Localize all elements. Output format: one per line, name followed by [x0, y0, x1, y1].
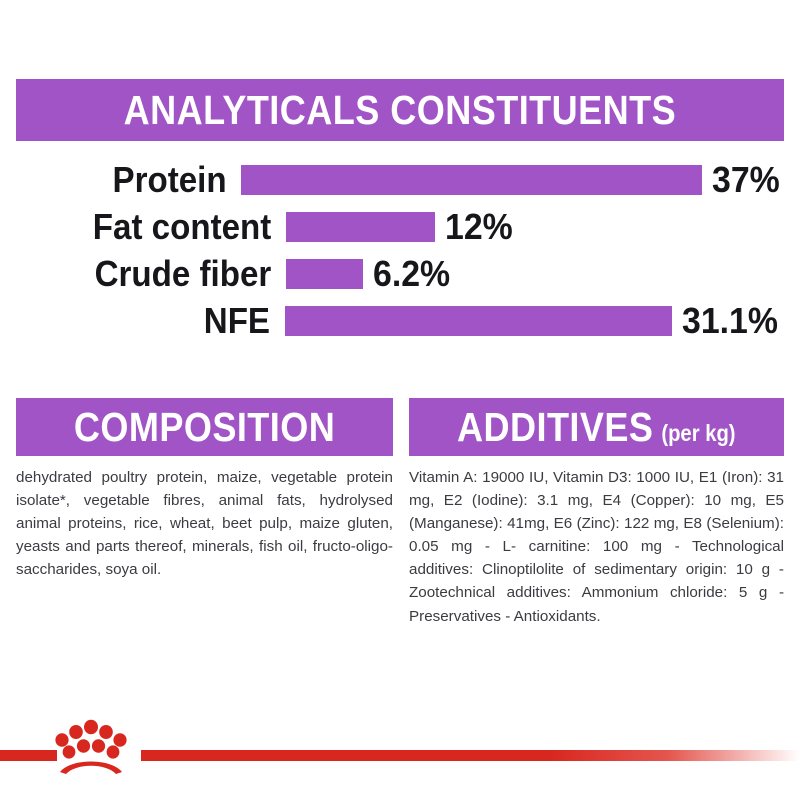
nutrition-label-page: ANALYTICALS CONSTITUENTS Protein37%Fat c…	[0, 0, 800, 800]
bar-track: 12%	[286, 203, 784, 250]
bar-row: Fat content12%	[16, 203, 784, 250]
bar-fill	[285, 306, 672, 336]
royal-canin-crown-icon	[55, 714, 127, 776]
bar-fill	[286, 212, 435, 242]
analyticals-constituents-title: ANALYTICALS CONSTITUENTS	[124, 90, 676, 131]
additives-list-text: Vitamin A: 19000 IU, Vitamin D3: 1000 IU…	[409, 466, 784, 628]
bar-row: Protein37%	[16, 156, 784, 203]
bar-fill	[286, 259, 363, 289]
bar-row: Crude fiber6.2%	[16, 250, 784, 297]
bar-value-label: 31.1%	[682, 303, 778, 339]
bar-track: 6.2%	[286, 250, 784, 297]
bar-category-label: NFE	[37, 303, 284, 339]
additives-title-group: ADDITIVES (per kg)	[457, 407, 736, 448]
bar-category-label: Fat content	[38, 209, 286, 245]
bar-track: 37%	[241, 156, 784, 203]
bar-category-label: Crude fiber	[38, 256, 286, 292]
composition-header: COMPOSITION	[16, 398, 393, 456]
composition-title: COMPOSITION	[74, 407, 335, 448]
bar-row: NFE31.1%	[16, 297, 784, 344]
analyticals-constituents-header: ANALYTICALS CONSTITUENTS	[16, 79, 784, 141]
additives-title: ADDITIVES	[457, 407, 653, 448]
bar-category-label: Protein	[34, 162, 241, 198]
bar-value-label: 37%	[712, 162, 780, 198]
bar-value-label: 6.2%	[373, 256, 450, 292]
brand-rule-right	[141, 750, 800, 761]
bar-track: 31.1%	[285, 297, 784, 344]
additives-per-kg-label: (per kg)	[662, 422, 736, 445]
analyticals-bar-chart: Protein37%Fat content12%Crude fiber6.2%N…	[16, 156, 784, 364]
bar-value-label: 12%	[445, 209, 513, 245]
brand-rule-left	[0, 750, 57, 761]
additives-header: ADDITIVES (per kg)	[409, 398, 784, 456]
composition-ingredients-text: dehydrated poultry protein, maize, veget…	[16, 466, 393, 581]
bar-fill	[241, 165, 702, 195]
